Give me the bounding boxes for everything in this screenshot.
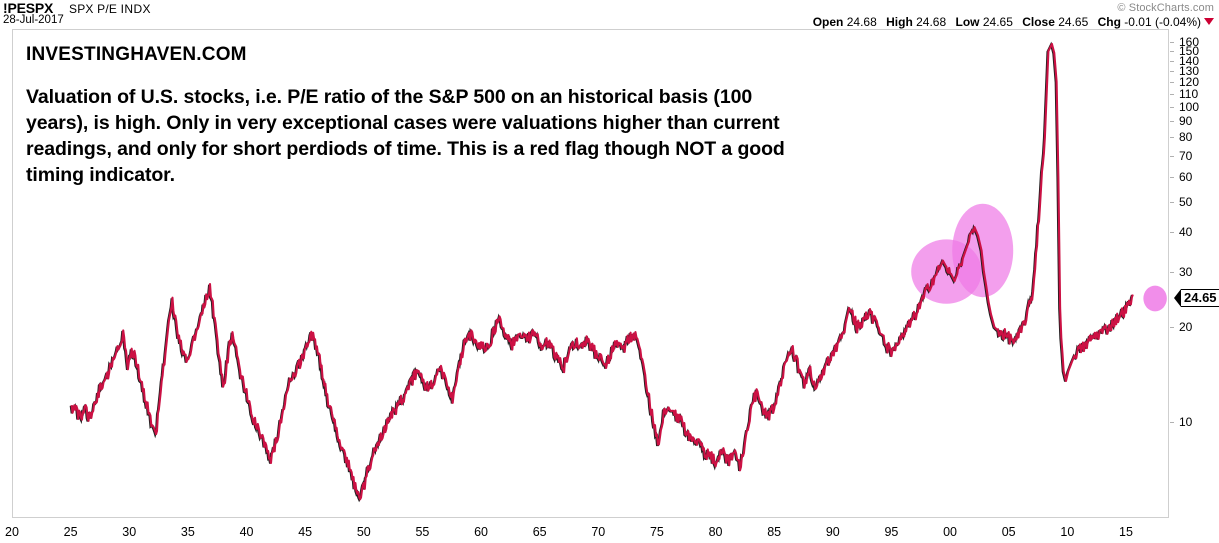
high-value: 24.68 (916, 15, 946, 29)
stockcharts-copyright: © StockCharts.com (1117, 2, 1214, 14)
y-tick-mark (1170, 51, 1174, 52)
y-tick-mark (1170, 71, 1174, 72)
y-axis: 24.65 1020304050607080901001101201301401… (1170, 29, 1219, 518)
close-value: 24.65 (1058, 15, 1088, 29)
open-label: Open (813, 15, 844, 29)
x-tick-label: 00 (943, 525, 957, 539)
x-tick-label: 95 (884, 525, 898, 539)
x-tick-label: 45 (298, 525, 312, 539)
y-tick-mark (1170, 232, 1174, 233)
y-tick-mark (1170, 82, 1174, 83)
y-tick-label: 60 (1179, 170, 1192, 184)
y-tick-label: 20 (1179, 320, 1192, 334)
y-tick-label: 110 (1179, 87, 1198, 101)
x-tick-label: 15 (1119, 525, 1133, 539)
x-tick-label: 90 (826, 525, 840, 539)
y-tick-mark (1170, 61, 1174, 62)
y-tick-label: 40 (1179, 225, 1192, 239)
y-tick-mark (1170, 156, 1174, 157)
low-value: 24.65 (983, 15, 1013, 29)
x-tick-label: 85 (767, 525, 781, 539)
y-tick-mark (1170, 121, 1174, 122)
x-tick-label: 40 (240, 525, 254, 539)
x-tick-label: 35 (181, 525, 195, 539)
y-tick-mark (1170, 202, 1174, 203)
symbol-exchange: INDX (121, 2, 151, 16)
x-tick-label: 20 (5, 525, 19, 539)
y-tick-mark (1170, 422, 1174, 423)
x-tick-label: 80 (709, 525, 723, 539)
y-tick-mark (1170, 42, 1174, 43)
y-tick-mark (1170, 177, 1174, 178)
y-tick-label: 50 (1179, 195, 1192, 209)
x-tick-label: 05 (1002, 525, 1016, 539)
x-tick-label: 10 (1060, 525, 1074, 539)
y-tick-label: 100 (1179, 100, 1199, 114)
low-label: Low (956, 15, 980, 29)
current-price-tag: 24.65 (1174, 289, 1219, 307)
highlight-ellipse-current-value (1143, 286, 1166, 312)
price-tag-arrow-icon (1174, 289, 1181, 307)
change-value: -0.01 (-0.04%) (1124, 15, 1201, 29)
y-tick-label: 90 (1179, 114, 1192, 128)
y-tick-label: 80 (1179, 130, 1192, 144)
annotation-title: INVESTINGHAVEN.COM (26, 44, 816, 66)
annotation-block: INVESTINGHAVEN.COM Valuation of U.S. sto… (26, 44, 816, 188)
x-axis: 2025303540455055606570758085909500051015 (12, 519, 1169, 543)
change-label: Chg (1098, 15, 1121, 29)
change-down-triangle-icon (1204, 18, 1214, 25)
y-tick-mark (1170, 107, 1174, 108)
y-tick-label: 70 (1179, 149, 1192, 163)
annotation-body: Valuation of U.S. stocks, i.e. P/E ratio… (26, 84, 816, 188)
y-tick-mark (1170, 137, 1174, 138)
x-tick-label: 70 (591, 525, 605, 539)
x-tick-label: 60 (474, 525, 488, 539)
close-label: Close (1022, 15, 1055, 29)
x-tick-label: 65 (533, 525, 547, 539)
x-tick-label: 55 (415, 525, 429, 539)
chart-date: 28-Jul-2017 (3, 14, 64, 26)
high-label: High (886, 15, 913, 29)
symbol-description: SPX P/E INDX (69, 2, 151, 16)
chart-header: !PESPX SPX P/E INDX 28-Jul-2017 © StockC… (0, 0, 1219, 29)
y-tick-label: 10 (1179, 415, 1192, 429)
symbol-desc-text: SPX P/E (69, 2, 117, 16)
y-tick-mark (1170, 272, 1174, 273)
x-tick-label: 75 (650, 525, 664, 539)
x-tick-label: 25 (64, 525, 78, 539)
x-tick-label: 30 (122, 525, 136, 539)
highlight-ellipse-dotcom-peak-2 (952, 204, 1013, 298)
y-tick-mark (1170, 94, 1174, 95)
price-tag-value: 24.65 (1181, 289, 1219, 307)
x-tick-label: 50 (357, 525, 371, 539)
quote-bar: Open 24.68 High 24.68 Low 24.65 Close 24… (813, 15, 1214, 29)
y-tick-label: 160 (1179, 35, 1199, 49)
y-tick-label: 30 (1179, 265, 1192, 279)
open-value: 24.68 (847, 15, 877, 29)
y-tick-mark (1170, 327, 1174, 328)
